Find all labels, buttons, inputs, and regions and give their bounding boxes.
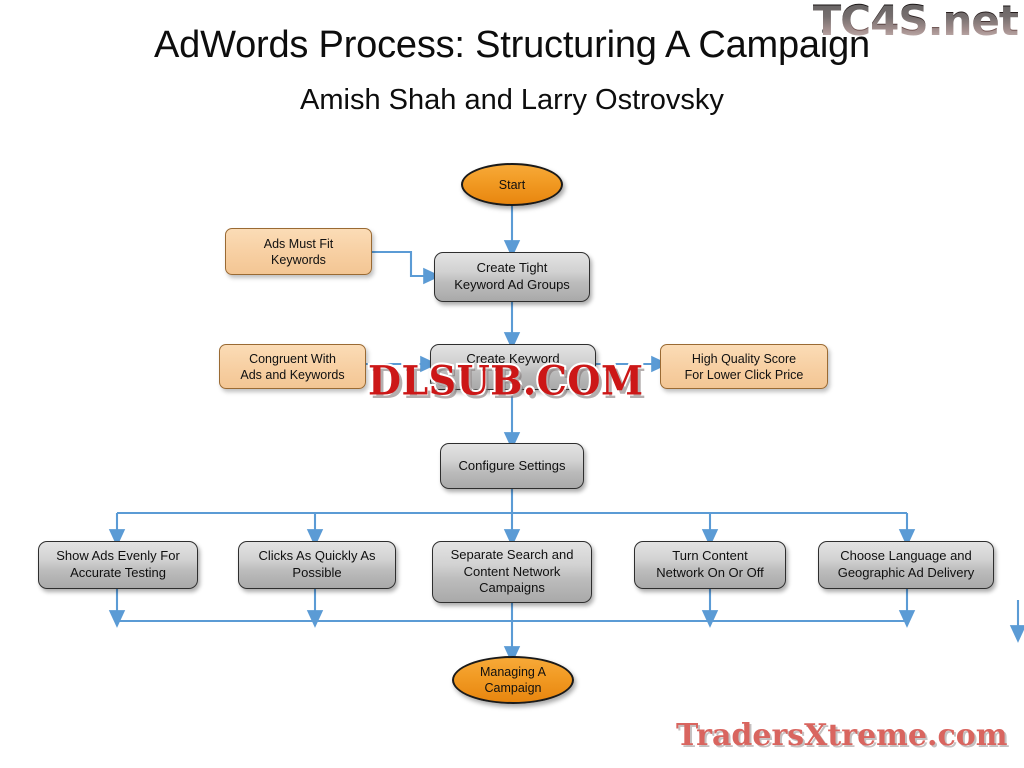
line-2: Geographic Ad Delivery — [838, 565, 975, 580]
line-1: Choose Language and — [840, 548, 972, 563]
line-1: Managing A — [480, 665, 546, 679]
node-create-tight-keyword-ad-groups-label: Create Tight Keyword Ad Groups — [454, 260, 570, 293]
line-1: High Quality Score — [692, 352, 796, 366]
node-create-tight-keyword-ad-groups[interactable]: Create Tight Keyword Ad Groups — [434, 252, 590, 302]
node-configure-settings[interactable]: Configure Settings — [440, 443, 584, 489]
line-1: Separate Search and — [451, 547, 574, 562]
node-separate-search-and-content-network-campaigns-label: Separate Search and Content Network Camp… — [451, 547, 574, 597]
node-show-ads-evenly-label: Show Ads Evenly For Accurate Testing — [56, 548, 180, 581]
node-note-high-quality-score-label: High Quality Score For Lower Click Price — [685, 351, 804, 383]
node-note-congruent-with-ads-and-keywords[interactable]: Congruent With Ads and Keywords — [219, 344, 366, 389]
node-note-ads-must-fit-keywords[interactable]: Ads Must Fit Keywords — [225, 228, 372, 275]
node-managing-a-campaign-label: Managing A Campaign — [480, 664, 546, 696]
line-1: Turn Content — [672, 548, 747, 563]
watermark-tradersxtreme: TradersXtreme.com — [676, 718, 1007, 753]
node-choose-language-and-geographic-ad-delivery-label: Choose Language and Geographic Ad Delive… — [838, 548, 975, 581]
line-2: For Lower Click Price — [685, 368, 804, 382]
node-separate-search-and-content-network-campaigns[interactable]: Separate Search and Content Network Camp… — [432, 541, 592, 603]
node-turn-content-network-on-or-off-label: Turn Content Network On Or Off — [656, 548, 763, 581]
line-2: Campaign — [485, 681, 542, 695]
node-managing-a-campaign[interactable]: Managing A Campaign — [452, 656, 574, 704]
line-2: Network On Or Off — [656, 565, 763, 580]
node-configure-settings-label: Configure Settings — [459, 458, 566, 475]
line-1: Create Tight — [477, 260, 548, 275]
watermark-tc4s: TC4S.net — [813, 0, 1018, 45]
edge-note-adsfit-to-tight — [372, 252, 432, 276]
slide-canvas: AdWords Process: Structuring A Campaign … — [0, 0, 1024, 768]
node-start-label: Start — [499, 177, 525, 193]
line-1: Show Ads Evenly For — [56, 548, 180, 563]
node-show-ads-evenly[interactable]: Show Ads Evenly For Accurate Testing — [38, 541, 198, 589]
line-2: Keyword Ad Groups — [454, 277, 570, 292]
line-2: Ads and Keywords — [240, 368, 344, 382]
watermark-dlsub: DLSUB.COM — [368, 357, 644, 404]
node-turn-content-network-on-or-off[interactable]: Turn Content Network On Or Off — [634, 541, 786, 589]
line-2: Content Network — [464, 564, 561, 579]
line-2: Accurate Testing — [70, 565, 166, 580]
line-2: Keywords — [271, 253, 326, 267]
line-2: Possible — [292, 565, 341, 580]
node-start[interactable]: Start — [461, 163, 563, 206]
node-note-ads-must-fit-keywords-label: Ads Must Fit Keywords — [264, 236, 333, 268]
line-3: Campaigns — [479, 580, 545, 595]
line-1: Congruent With — [249, 352, 336, 366]
node-clicks-as-quickly-as-possible-label: Clicks As Quickly As Possible — [258, 548, 375, 581]
line-1: Ads Must Fit — [264, 237, 333, 251]
node-clicks-as-quickly-as-possible[interactable]: Clicks As Quickly As Possible — [238, 541, 396, 589]
page-subtitle: Amish Shah and Larry Ostrovsky — [0, 84, 1024, 117]
node-note-congruent-with-ads-and-keywords-label: Congruent With Ads and Keywords — [240, 351, 344, 383]
node-choose-language-and-geographic-ad-delivery[interactable]: Choose Language and Geographic Ad Delive… — [818, 541, 994, 589]
node-note-high-quality-score[interactable]: High Quality Score For Lower Click Price — [660, 344, 828, 389]
line-1: Clicks As Quickly As — [258, 548, 375, 563]
